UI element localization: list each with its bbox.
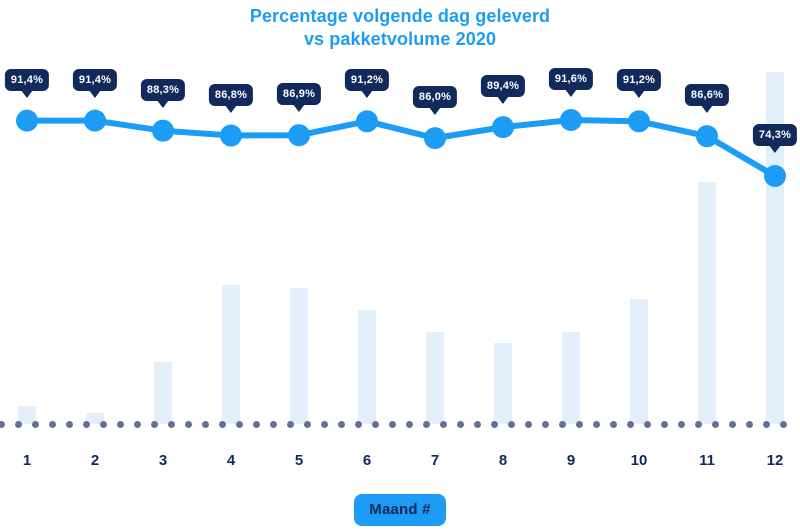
x-tick-label-1: 1	[23, 452, 31, 469]
data-point-month-9[interactable]	[560, 109, 582, 131]
value-badge-month-2: 91,4%	[73, 69, 117, 91]
data-point-month-3[interactable]	[152, 120, 174, 142]
data-point-month-5[interactable]	[288, 124, 310, 146]
x-tick-label-9: 9	[567, 452, 575, 469]
x-tick-label-10: 10	[631, 452, 648, 469]
x-tick-label-2: 2	[91, 452, 99, 469]
x-tick-label-4: 4	[227, 452, 235, 469]
x-axis-title-wrapper: Maand #	[0, 494, 800, 526]
value-badge-month-7: 86,0%	[413, 86, 457, 108]
x-tick-label-6: 6	[363, 452, 371, 469]
value-badge-month-4: 86,8%	[209, 84, 253, 106]
value-badge-month-3: 88,3%	[141, 79, 185, 101]
x-axis-tick-labels: 123456789101112	[0, 452, 800, 482]
x-tick-label-11: 11	[699, 452, 715, 469]
x-tick-label-8: 8	[499, 452, 507, 469]
x-tick-label-3: 3	[159, 452, 167, 469]
data-point-month-1[interactable]	[16, 110, 38, 132]
data-point-month-2[interactable]	[84, 110, 106, 132]
data-point-month-6[interactable]	[356, 110, 378, 132]
data-point-month-8[interactable]	[492, 116, 514, 138]
data-point-month-10[interactable]	[628, 110, 650, 132]
value-badge-month-1: 91,4%	[5, 69, 49, 91]
value-badge-month-8: 89,4%	[481, 75, 525, 97]
line-series-percentage	[0, 0, 800, 450]
data-point-month-11[interactable]	[696, 125, 718, 147]
x-axis-title-pill: Maand #	[354, 494, 445, 526]
value-badge-month-5: 86,9%	[277, 83, 321, 105]
value-badge-month-12: 74,3%	[753, 124, 797, 146]
x-tick-label-12: 12	[767, 452, 784, 469]
data-point-month-12[interactable]	[764, 165, 786, 187]
value-badge-month-6: 91,2%	[345, 69, 389, 91]
value-badge-month-9: 91,6%	[549, 68, 593, 90]
x-tick-label-5: 5	[295, 452, 303, 469]
value-badge-month-11: 86,6%	[685, 84, 729, 106]
data-point-month-7[interactable]	[424, 127, 446, 149]
x-tick-label-7: 7	[431, 452, 439, 469]
plot-area: 91,4%91,4%88,3%86,8%86,9%91,2%86,0%89,4%…	[0, 0, 800, 450]
value-badge-month-10: 91,2%	[617, 69, 661, 91]
chart-container: Percentage volgende dag geleverd vs pakk…	[0, 0, 800, 532]
data-point-month-4[interactable]	[220, 125, 242, 147]
